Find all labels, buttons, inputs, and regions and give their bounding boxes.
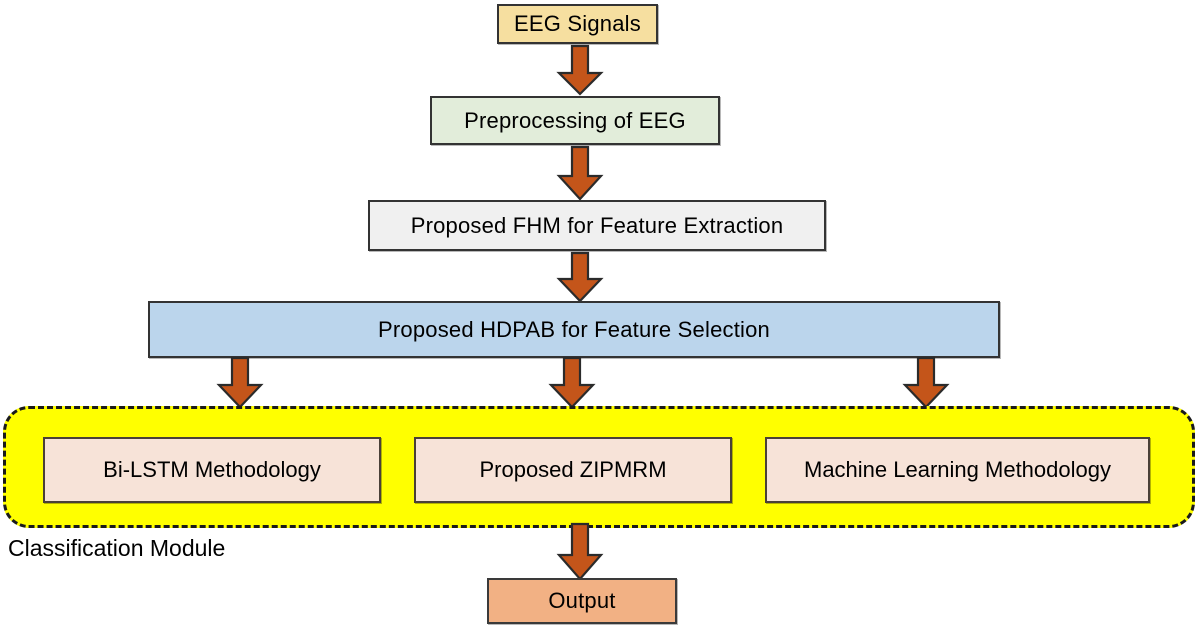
arrow-hdpab-to-zipmrm: [548, 358, 596, 408]
arrow-hdpab-to-bilstm: [216, 358, 264, 408]
node-feature-extraction: Proposed FHM for Feature Extraction: [368, 200, 826, 251]
node-preprocessing-of-eeg: Preprocessing of EEG: [430, 96, 720, 145]
flowchart-canvas: EEG Signals Preprocessing of EEG Propose…: [0, 0, 1200, 632]
arrow-eeg-to-preprocessing: [556, 45, 604, 95]
arrow-fhm-to-hdpab: [556, 252, 604, 302]
node-feature-selection: Proposed HDPAB for Feature Selection: [148, 301, 1000, 358]
classification-module-label: Classification Module: [8, 535, 225, 562]
node-output: Output: [487, 578, 677, 624]
arrow-hdpab-to-machine-learning: [902, 358, 950, 408]
node-proposed-zipmrm: Proposed ZIPMRM: [414, 437, 732, 503]
node-machine-learning-methodology: Machine Learning Methodology: [765, 437, 1150, 503]
arrow-preprocessing-to-fhm: [556, 146, 604, 200]
node-eeg-signals: EEG Signals: [497, 4, 658, 44]
arrow-module-to-output: [556, 524, 604, 580]
node-bilstm-methodology: Bi-LSTM Methodology: [43, 437, 381, 503]
